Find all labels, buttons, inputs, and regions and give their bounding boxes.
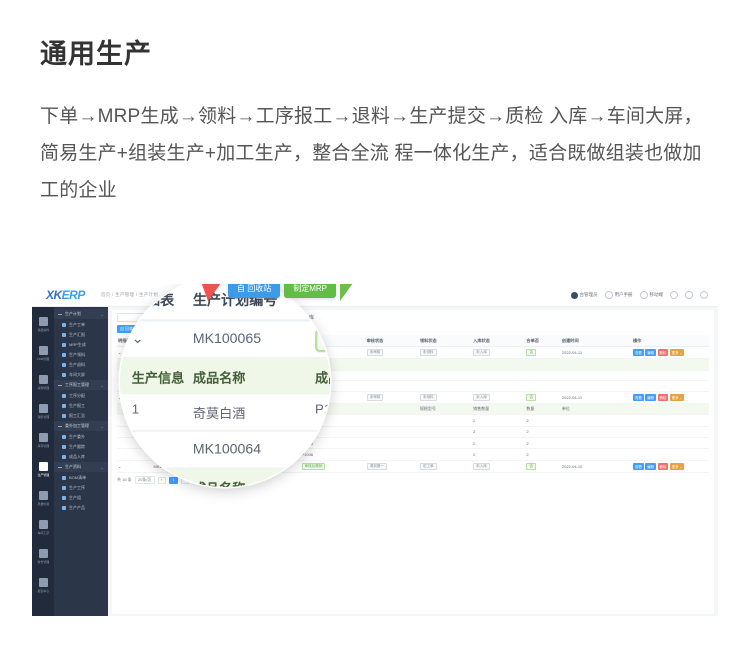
op-delete[interactable]: 删除 bbox=[658, 394, 669, 401]
lens-sub-code: 成品编码 bbox=[315, 478, 330, 487]
book-icon bbox=[605, 291, 613, 299]
collapse-icon bbox=[58, 314, 62, 315]
doc-icon bbox=[62, 506, 66, 510]
tool-icon bbox=[39, 520, 48, 529]
lens-sub-info: 生产信息 bbox=[120, 367, 193, 386]
menu-group-0[interactable]: 生产计划⌄ bbox=[54, 309, 108, 319]
doc-icon bbox=[62, 455, 66, 459]
menu-item-13[interactable]: 生产跟踪 bbox=[54, 442, 108, 452]
doc-icon bbox=[62, 496, 66, 500]
menu-item-16[interactable]: BOM清单 bbox=[54, 473, 108, 483]
op-delete[interactable]: 删除 bbox=[658, 463, 669, 470]
rail-item-0[interactable]: 基础资料 bbox=[32, 310, 54, 339]
lens-expand-icon[interactable]: ⌄ bbox=[120, 442, 193, 458]
cell-created: 2022-04-11 bbox=[561, 347, 632, 359]
cell-audit: 未审核 bbox=[366, 347, 419, 359]
th-stock: 入库状态 bbox=[472, 335, 525, 347]
sub-qty: 2 bbox=[472, 426, 525, 437]
doc-icon bbox=[62, 373, 66, 377]
menu-item-18[interactable]: 生产组 bbox=[54, 493, 108, 503]
op-view[interactable]: 查看 bbox=[633, 349, 644, 356]
sub-qty: 2 bbox=[472, 438, 525, 449]
rail-item-3[interactable]: 销售管理 bbox=[32, 397, 54, 426]
chevron-down-icon: ⌄ bbox=[101, 424, 104, 429]
menu-item-12[interactable]: 生产委外 bbox=[54, 432, 108, 442]
ribbon-green-icon bbox=[340, 284, 356, 301]
doc-icon bbox=[62, 476, 66, 480]
doc-icon bbox=[62, 394, 66, 398]
lens-type-tag: 配置 bbox=[315, 329, 330, 353]
lens-sub-idx: 1 bbox=[120, 403, 193, 422]
lens-code: MK100065 bbox=[193, 332, 315, 346]
menu-item-4[interactable]: 生产领料 bbox=[54, 350, 108, 360]
refresh-icon[interactable] bbox=[670, 291, 678, 299]
doc-icon bbox=[62, 404, 66, 408]
sub-th-sales: 销售数量 bbox=[472, 403, 525, 414]
op-more[interactable]: 更多 ⌄ bbox=[670, 463, 685, 470]
menu-group-11[interactable]: 委外加工管理⌄ bbox=[54, 421, 108, 431]
ribbon-red-icon bbox=[200, 284, 224, 301]
rail-item-6[interactable]: 质量检验 bbox=[32, 484, 54, 513]
menu-item-10[interactable]: 报工汇总 bbox=[54, 411, 108, 421]
magnifier-lens: 明细表 生产计划编号 生产类型 生产组 ⌄ MK100065 配置 配置组 生产… bbox=[120, 284, 330, 487]
rail-item-1[interactable]: CRM管理 bbox=[32, 339, 54, 368]
menu-group-7[interactable]: 工序报工管理⌄ bbox=[54, 380, 108, 390]
th-created: 创建时间 bbox=[561, 335, 632, 347]
module-rail: 基础资料 CRM管理 采购管理 销售管理 库存管理 生产管理 质量检验 车间工序… bbox=[32, 307, 54, 616]
box-icon bbox=[39, 317, 48, 326]
th-merge: 合单否 bbox=[525, 335, 561, 347]
lens-sub-row-1: 1 奇莫白酒 P10109 bbox=[120, 395, 330, 433]
logo-erp: ERP bbox=[62, 288, 85, 302]
collapse-icon bbox=[58, 426, 62, 427]
lens-sub-header-2: 信息 成品名称 成品编码 bbox=[120, 470, 330, 487]
doc-icon bbox=[62, 414, 66, 418]
money-icon bbox=[39, 549, 48, 558]
op-edit[interactable]: 编辑 bbox=[645, 349, 656, 356]
sub-qty: 2 bbox=[472, 449, 525, 460]
menu-group-15[interactable]: 生产资料⌄ bbox=[54, 462, 108, 472]
floating-banner: 自 回收站 制定MRP bbox=[200, 284, 356, 301]
sidebar-menu: 生产计划⌄ 生产工单 生产汇报 MRP生成 生产领料 生产退料 车间大屏 工序报… bbox=[54, 307, 108, 616]
cell-merge: 否 bbox=[525, 460, 561, 472]
op-edit[interactable]: 编辑 bbox=[645, 394, 656, 401]
page-description: 下单→MRP生成→领料→工序报工→退料→生产提交→质检 入库→车间大屏，简易生产… bbox=[40, 98, 720, 209]
logo-xk: XK bbox=[46, 288, 62, 302]
chevron-down-icon: ⌄ bbox=[101, 312, 104, 317]
rail-item-4[interactable]: 库存管理 bbox=[32, 426, 54, 455]
header-link-mobile[interactable]: 移动端 bbox=[640, 291, 664, 299]
cell-audit: 未审核 bbox=[366, 391, 419, 403]
collapse-icon bbox=[58, 467, 62, 468]
chevron-down-icon: ⌄ bbox=[101, 465, 104, 470]
rail-item-5[interactable]: 生产管理 bbox=[32, 455, 54, 484]
banner-create-mrp-button[interactable]: 制定MRP bbox=[284, 284, 336, 298]
menu-item-19[interactable]: 生产产品 bbox=[54, 503, 108, 513]
th-pick: 领料状态 bbox=[419, 335, 472, 347]
cell-pick: 未领料 bbox=[419, 347, 472, 359]
menu-item-2[interactable]: 生产汇报 bbox=[54, 330, 108, 340]
lens-expand-icon[interactable]: ⌄ bbox=[120, 331, 193, 347]
rail-item-7[interactable]: 车间工序 bbox=[32, 513, 54, 542]
settings-icon[interactable] bbox=[685, 291, 693, 299]
header-link-admin[interactable]: 台管理员 bbox=[571, 292, 598, 299]
cell-ops: 查看编辑删除更多 ⌄ bbox=[632, 391, 709, 403]
report-icon bbox=[39, 578, 48, 587]
avatar-icon bbox=[571, 292, 578, 299]
header-right: 台管理员 用户手册 移动端 bbox=[571, 291, 709, 299]
cart-icon bbox=[39, 375, 48, 384]
warehouse-icon bbox=[39, 433, 48, 442]
rail-item-2[interactable]: 采购管理 bbox=[32, 368, 54, 397]
sub-unit: 2 bbox=[525, 426, 561, 437]
menu-item-14[interactable]: 成品入库 bbox=[54, 452, 108, 462]
rail-item-8[interactable]: 财务管理 bbox=[32, 542, 54, 571]
doc-icon bbox=[62, 353, 66, 357]
sub-th-spec: 规格型号 bbox=[419, 403, 472, 414]
lens-sub-prod-name: 奇莫白酒 bbox=[193, 403, 315, 422]
cell-created: 2022-04-10 bbox=[561, 460, 632, 472]
header-link-manual-label: 用户手册 bbox=[615, 292, 633, 298]
sub-th-qty: 数量 bbox=[525, 403, 561, 414]
lens-sub-header: 生产信息 成品名称 成品编码 规 bbox=[120, 359, 330, 394]
erp-screenshot: XKERP 首页 / 生产管理 / 生产计划 台管理员 用户手册 移动端 基础资… bbox=[32, 284, 718, 616]
th-ops: 操作 bbox=[632, 335, 709, 347]
chevron-down-icon: ⌄ bbox=[101, 383, 104, 388]
sub-th-unit: 单位 bbox=[561, 403, 709, 414]
lens-sub-name: 成品名称 bbox=[193, 478, 315, 487]
lens-sub-info: 信息 bbox=[120, 478, 193, 487]
menu-item-3[interactable]: MRP生成 bbox=[54, 340, 108, 350]
op-more[interactable]: 更多 ⌄ bbox=[670, 394, 685, 401]
cell-stock: 未入库 bbox=[472, 391, 525, 403]
flag-icon bbox=[39, 404, 48, 413]
menu-item-5[interactable]: 生产退料 bbox=[54, 360, 108, 370]
magnified-table: 明细表 生产计划编号 生产类型 生产组 ⌄ MK100065 配置 配置组 生产… bbox=[120, 284, 330, 487]
lens-type-tag: 配置 bbox=[315, 439, 330, 463]
lens-code: MK100064 bbox=[193, 443, 315, 457]
cell-ops: 查看编辑删除更多 ⌄ bbox=[632, 347, 709, 359]
menu-item-1[interactable]: 生产工单 bbox=[54, 320, 108, 330]
cell-merge: 否 bbox=[525, 347, 561, 359]
lens-row-2[interactable]: ⌄ MK100064 配置 配置组 bbox=[120, 432, 330, 470]
menu-item-6[interactable]: 车间大屏 bbox=[54, 370, 108, 380]
fullscreen-icon[interactable] bbox=[700, 291, 708, 299]
doc-icon bbox=[62, 343, 66, 347]
lens-sub-name: 成品名称 bbox=[193, 367, 315, 386]
cell-pick: 定工单 bbox=[419, 460, 472, 472]
doc-icon bbox=[62, 435, 66, 439]
collapse-icon bbox=[58, 385, 62, 386]
marketing-copy: 通用生产 下单→MRP生成→领料→工序报工→退料→生产提交→质检 入库→车间大屏… bbox=[0, 0, 750, 210]
doc-icon bbox=[62, 445, 66, 449]
lens-row-1[interactable]: ⌄ MK100065 配置 配置组 bbox=[120, 322, 330, 360]
op-view[interactable]: 查看 bbox=[633, 394, 644, 401]
mobile-icon bbox=[640, 291, 648, 299]
page-title: 通用生产 bbox=[40, 38, 710, 70]
cell-merge: 否 bbox=[525, 391, 561, 403]
sub-unit: 2 bbox=[525, 438, 561, 449]
menu-item-9[interactable]: 生产报工 bbox=[54, 401, 108, 411]
menu-item-8[interactable]: 工序分配 bbox=[54, 391, 108, 401]
lens-sub-code: 成品编码 bbox=[315, 367, 330, 386]
doc-icon bbox=[62, 333, 66, 337]
cell-stock: 未入库 bbox=[472, 347, 525, 359]
header-link-admin-label: 台管理员 bbox=[580, 292, 598, 298]
share-icon bbox=[39, 462, 48, 471]
sub-unit: 2 bbox=[525, 415, 561, 426]
grid-icon bbox=[39, 346, 48, 355]
header-link-mobile-label: 移动端 bbox=[650, 292, 664, 298]
cell-pick: 未领料 bbox=[419, 391, 472, 403]
rail-item-9[interactable]: 报表中心 bbox=[32, 571, 54, 600]
th-audit: 审核状态 bbox=[366, 335, 419, 347]
app-logo: XKERP bbox=[46, 288, 85, 302]
cell-audit: 请到第一 bbox=[366, 460, 419, 472]
doc-icon bbox=[62, 323, 66, 327]
desc-line-1: 下单→MRP生成→领料→工序报工→退料→生产提交→质检 bbox=[40, 106, 544, 127]
lens-th-detail: 明细表 bbox=[120, 289, 193, 310]
op-delete[interactable]: 删除 bbox=[658, 349, 669, 356]
doc-icon bbox=[62, 486, 66, 490]
op-edit[interactable]: 编辑 bbox=[645, 463, 656, 470]
doc-icon bbox=[62, 363, 66, 367]
sub-unit: 2 bbox=[525, 449, 561, 460]
sub-qty: 2 bbox=[472, 415, 525, 426]
cell-stock: 未入库 bbox=[472, 460, 525, 472]
header-link-manual[interactable]: 用户手册 bbox=[605, 291, 633, 299]
menu-item-17[interactable]: 生产工序 bbox=[54, 483, 108, 493]
banner-recycle-bin-button[interactable]: 自 回收站 bbox=[228, 284, 280, 298]
op-more[interactable]: 更多 ⌄ bbox=[670, 349, 685, 356]
cell-created: 2022-04-11 bbox=[561, 391, 632, 403]
check-icon bbox=[39, 491, 48, 500]
cell-ops: 查看编辑删除更多 ⌄ bbox=[632, 460, 709, 472]
lens-sub-prod-code: P10109 bbox=[315, 403, 330, 422]
op-view[interactable]: 查看 bbox=[633, 463, 644, 470]
